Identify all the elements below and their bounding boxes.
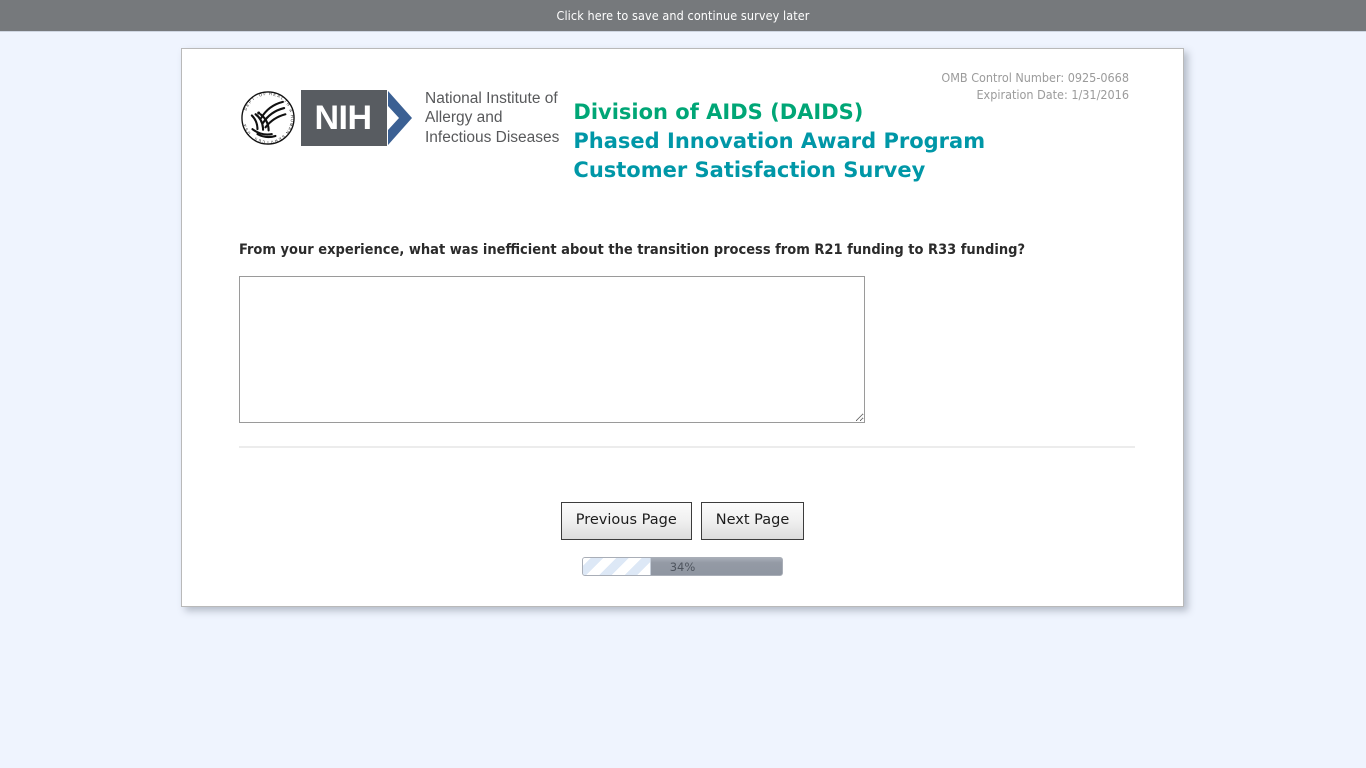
chevron-right-icon (386, 90, 416, 146)
svg-text:U: U (290, 119, 294, 122)
nih-logo: D E P T . O F H E A L T H & H U M (237, 87, 559, 149)
page-title-line-program: Phased Innovation Award Program (573, 127, 985, 156)
svg-text:S: S (254, 136, 259, 141)
institute-name-line-2: Allergy and (425, 108, 559, 128)
svg-text:A: A (243, 123, 248, 127)
save-and-continue-link[interactable]: Click here to save and continue survey l… (557, 8, 810, 23)
survey-page-container: OMB Control Number: 0925-0668 Expiration… (181, 48, 1184, 607)
svg-text:O: O (259, 93, 263, 98)
svg-text:I: I (267, 140, 268, 144)
institute-name-line-3: Infectious Diseases (425, 128, 559, 148)
svg-text:C: C (262, 139, 266, 143)
svg-text:H: H (285, 102, 290, 107)
hhs-seal-icon: D E P T . O F H E A L T H & H U M (237, 87, 299, 149)
institute-name-line-1: National Institute of (425, 89, 559, 109)
page-title: Division of AIDS (DAIDS) Phased Innovati… (573, 98, 985, 185)
nih-wordmark: NIH (301, 90, 416, 146)
question-block: From your experience, what was inefficie… (239, 241, 1135, 423)
nih-acronym: NIH (301, 90, 387, 146)
svg-text:M: M (289, 123, 294, 127)
previous-page-button[interactable]: Previous Page (561, 502, 692, 540)
svg-text:H: H (269, 92, 272, 96)
svg-text:E: E (273, 93, 277, 98)
answer-textarea[interactable] (239, 276, 865, 423)
svg-text:.: . (255, 95, 258, 99)
question-label: From your experience, what was inefficie… (239, 241, 1135, 259)
survey-header: D E P T . O F H E A L T H & H U M (237, 87, 985, 185)
svg-text:&: & (288, 109, 293, 113)
save-and-continue-bar: Click here to save and continue survey l… (0, 0, 1366, 32)
next-page-button[interactable]: Next Page (701, 502, 805, 540)
svg-text:H: H (290, 115, 294, 118)
page-title-line-survey: Customer Satisfaction Survey (573, 156, 985, 185)
survey-progress-bar: 34% (582, 557, 783, 576)
navigation-button-group: Previous Page Next Page (182, 502, 1183, 540)
nih-institute-name: National Institute of Allergy and Infect… (425, 89, 559, 148)
svg-text:T: T (251, 96, 256, 101)
svg-text:N: N (285, 130, 290, 135)
progress-area: 34% (182, 557, 1183, 576)
section-divider (239, 446, 1135, 448)
progress-percent-label: 34% (583, 558, 782, 576)
page-title-line-division: Division of AIDS (DAIDS) (573, 98, 985, 127)
svg-text:F: F (263, 92, 267, 96)
svg-text:R: R (274, 138, 278, 143)
omb-control-number: OMB Control Number: 0925-0668 (941, 69, 1129, 86)
svg-text:V: V (270, 139, 274, 143)
svg-text:L: L (280, 96, 284, 100)
svg-text:S: S (244, 127, 249, 132)
